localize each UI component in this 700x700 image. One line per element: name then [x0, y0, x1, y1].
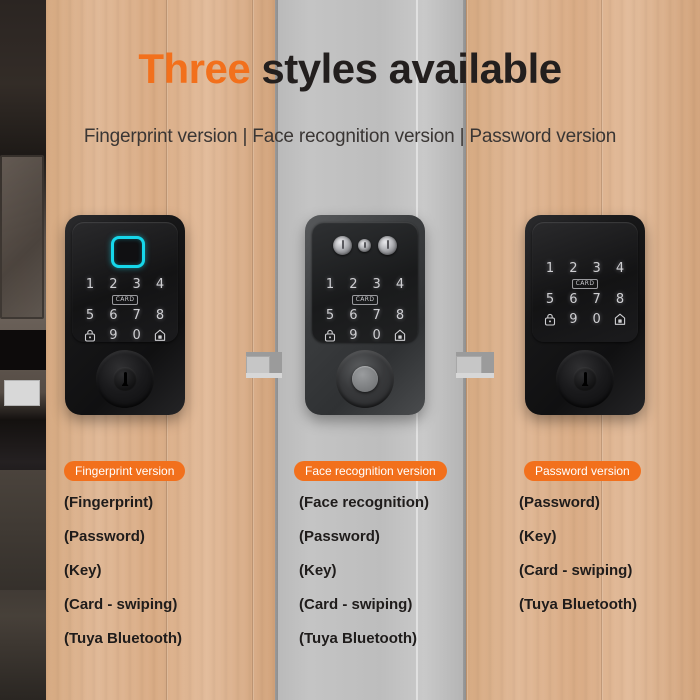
feature-item: (Password): [299, 529, 429, 544]
product-comparison-scene: Three styles available Fingerprint versi…: [0, 0, 700, 700]
keypad-panel: 1 2 3 4 CARD 5 6 7 8 9 0: [312, 222, 418, 342]
lock-device-password[interactable]: 1 2 3 4 CARD 5 6 7 8 9 0: [525, 215, 645, 415]
feature-item: (Card - swiping): [519, 563, 637, 578]
feature-list-face-recognition: (Face recognition) (Password) (Key) (Car…: [299, 495, 429, 665]
key-9[interactable]: 9: [104, 328, 122, 343]
camera-lens-right: [378, 236, 397, 255]
feature-item: (Key): [64, 563, 182, 578]
feature-item: (Tuya Bluetooth): [519, 597, 637, 612]
tv-screen: [0, 155, 44, 319]
key-4[interactable]: 4: [391, 277, 409, 292]
page-subtitle: Fingerprint version | Face recognition v…: [0, 126, 700, 148]
home-lock-icon[interactable]: [391, 329, 409, 342]
numeric-keypad[interactable]: 1 2 3 4 CARD 5 6 7 8 9 0: [541, 258, 629, 329]
keypad-panel: 1 2 3 4 CARD 5 6 7 8 9 0: [72, 222, 178, 342]
key-3[interactable]: 3: [588, 261, 606, 276]
key-7[interactable]: 7: [368, 308, 386, 323]
key-4[interactable]: 4: [611, 261, 629, 276]
badge-fingerprint-version: Fingerprint version: [64, 461, 185, 481]
key-7[interactable]: 7: [128, 308, 146, 323]
key-6[interactable]: 6: [344, 308, 362, 323]
key-9[interactable]: 9: [564, 312, 582, 327]
numeric-keypad[interactable]: 1 2 3 4 CARD 5 6 7 8 9 0: [321, 274, 409, 345]
key-2[interactable]: 2: [344, 277, 362, 292]
room-background: [0, 0, 46, 700]
feature-list-fingerprint: (Fingerprint) (Password) (Key) (Card - s…: [64, 495, 182, 665]
lock-icon[interactable]: [81, 329, 99, 342]
deadbolt-knob[interactable]: [336, 350, 394, 408]
badge-face-recognition-version: Face recognition version: [294, 461, 447, 481]
key-8[interactable]: 8: [151, 308, 169, 323]
numeric-keypad[interactable]: 1 2 3 4 CARD 5 6 7 8 9 0: [81, 274, 169, 345]
feature-item: (Face recognition): [299, 495, 429, 510]
key-3[interactable]: 3: [368, 277, 386, 292]
title-rest: styles available: [250, 45, 561, 92]
feature-item: (Card - swiping): [299, 597, 429, 612]
deadbolt-knob[interactable]: [556, 350, 614, 408]
key-4[interactable]: 4: [151, 277, 169, 292]
lock-icon[interactable]: [321, 329, 339, 342]
badge-password-version: Password version: [524, 461, 641, 481]
lock-device-fingerprint[interactable]: 1 2 3 4 CARD 5 6 7 8 9 0: [65, 215, 185, 415]
key-6[interactable]: 6: [104, 308, 122, 323]
door-latch-right: [456, 352, 494, 380]
camera-lens-center: [358, 239, 371, 252]
card-reader-label: CARD: [112, 295, 139, 305]
key-cylinder-icon[interactable]: [573, 367, 597, 391]
title-highlight: Three: [138, 45, 250, 92]
feature-item: (Fingerprint): [64, 495, 182, 510]
page-title: Three styles available: [0, 48, 700, 90]
key-0[interactable]: 0: [368, 328, 386, 343]
feature-item: (Tuya Bluetooth): [64, 631, 182, 646]
home-lock-icon[interactable]: [151, 329, 169, 342]
key-3[interactable]: 3: [128, 277, 146, 292]
keypad-panel: 1 2 3 4 CARD 5 6 7 8 9 0: [532, 222, 638, 342]
key-7[interactable]: 7: [588, 292, 606, 307]
key-8[interactable]: 8: [611, 292, 629, 307]
face-camera-array-icon[interactable]: [333, 234, 397, 256]
key-5[interactable]: 5: [81, 308, 99, 323]
deadbolt-knob[interactable]: [96, 350, 154, 408]
cabinet: [0, 330, 46, 370]
key-8[interactable]: 8: [391, 308, 409, 323]
door-latch-left: [246, 352, 282, 380]
key-1[interactable]: 1: [541, 261, 559, 276]
fingerprint-sensor-icon[interactable]: [111, 236, 145, 268]
key-5[interactable]: 5: [541, 292, 559, 307]
feature-item: (Card - swiping): [64, 597, 182, 612]
key-1[interactable]: 1: [321, 277, 339, 292]
thumbturn-icon[interactable]: [352, 366, 378, 392]
key-6[interactable]: 6: [564, 292, 582, 307]
lock-device-face-recognition[interactable]: 1 2 3 4 CARD 5 6 7 8 9 0: [305, 215, 425, 415]
card-reader-label: CARD: [352, 295, 379, 305]
feature-item: (Password): [519, 495, 637, 510]
feature-item: (Key): [299, 563, 429, 578]
key-1[interactable]: 1: [81, 277, 99, 292]
key-0[interactable]: 0: [128, 328, 146, 343]
feature-item: (Key): [519, 529, 637, 544]
key-cylinder-icon[interactable]: [113, 367, 137, 391]
feature-item: (Tuya Bluetooth): [299, 631, 429, 646]
card-reader-label: CARD: [572, 279, 599, 289]
feature-item: (Password): [64, 529, 182, 544]
lock-icon[interactable]: [541, 313, 559, 326]
feature-list-password: (Password) (Key) (Card - swiping) (Tuya …: [519, 495, 637, 631]
key-0[interactable]: 0: [588, 312, 606, 327]
shelf: [4, 380, 40, 406]
key-2[interactable]: 2: [564, 261, 582, 276]
key-9[interactable]: 9: [344, 328, 362, 343]
key-2[interactable]: 2: [104, 277, 122, 292]
camera-lens-left: [333, 236, 352, 255]
bed: [0, 470, 46, 590]
home-lock-icon[interactable]: [611, 313, 629, 326]
key-5[interactable]: 5: [321, 308, 339, 323]
